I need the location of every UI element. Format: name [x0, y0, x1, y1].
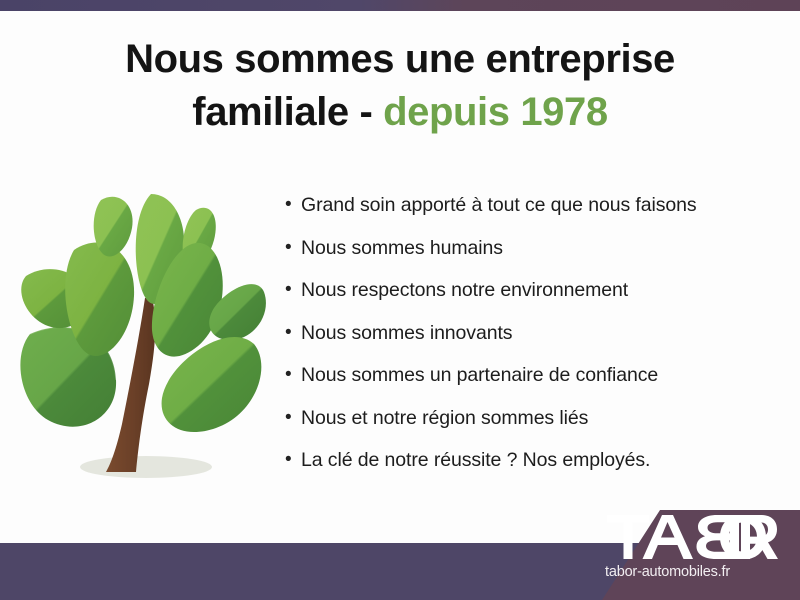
bullet-marker-icon: • [285, 277, 301, 303]
list-item-label: Grand soin apporté à tout ce que nous fa… [301, 192, 697, 218]
ground-shadow [80, 456, 212, 478]
logo-tagline: tabor-automobiles.fr [545, 564, 798, 580]
list-item-label: Nous sommes un partenaire de confiance [301, 362, 658, 388]
list-item-label: Nous sommes humains [301, 235, 503, 261]
list-item: • Nous respectons notre environnement [285, 277, 785, 320]
value-bullet-list: • Grand soin apporté à tout ce que nous … [285, 192, 785, 490]
heading-accent-since-1978: depuis 1978 [383, 90, 608, 134]
list-item: • La clé de notre réussite ? Nos employé… [285, 447, 785, 490]
bullet-marker-icon: • [285, 447, 301, 473]
list-item-label: Nous et notre région sommes liés [301, 405, 588, 431]
heading-line-2: familiale - depuis 1978 [0, 86, 800, 139]
list-item: • Grand soin apporté à tout ce que nous … [285, 192, 785, 235]
bullet-marker-icon: • [285, 405, 301, 431]
top-accent-bar [0, 0, 800, 11]
tree-illustration [18, 188, 274, 494]
list-item-label: Nous respectons notre environnement [301, 277, 628, 303]
bullet-marker-icon: • [285, 362, 301, 388]
list-item: • Nous et notre région sommes liés [285, 405, 785, 448]
heading-line-1: Nous sommes une entreprise [0, 33, 800, 86]
bullet-marker-icon: • [285, 192, 301, 218]
heading-line-2-plain: familiale - [192, 90, 383, 134]
list-item: • Nous sommes humains [285, 235, 785, 278]
list-item-label: La clé de notre réussite ? Nos employés. [301, 447, 650, 473]
page-title: Nous sommes une entreprise familiale - d… [0, 33, 800, 139]
tabor-logo-wordmark [607, 515, 787, 559]
list-item: • Nous sommes innovants [285, 320, 785, 363]
list-item-label: Nous sommes innovants [301, 320, 512, 346]
bullet-marker-icon: • [285, 320, 301, 346]
list-item: • Nous sommes un partenaire de confiance [285, 362, 785, 405]
slide-canvas: Nous sommes une entreprise familiale - d… [0, 0, 800, 600]
bullet-marker-icon: • [285, 235, 301, 261]
